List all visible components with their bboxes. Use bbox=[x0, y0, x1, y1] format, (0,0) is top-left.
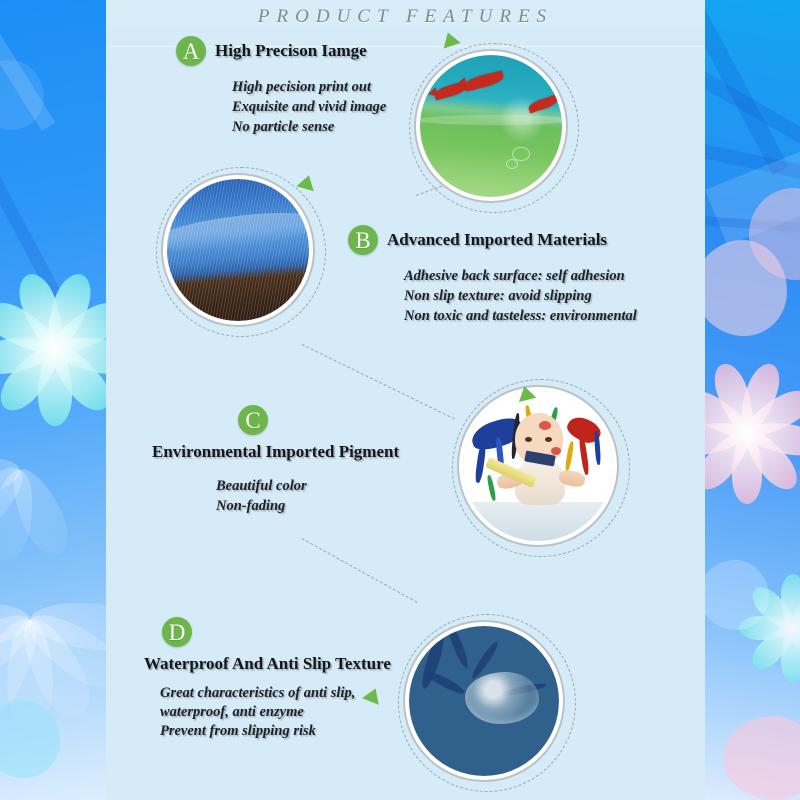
feature-a-line-1: High pecision print out bbox=[232, 77, 386, 97]
feature-c-badge-wrap: C bbox=[238, 405, 399, 435]
paint-on-face bbox=[539, 421, 551, 430]
feature-d-badge-wrap: D bbox=[162, 617, 391, 647]
surface-vein bbox=[444, 626, 471, 670]
infographic-canvas: PRODUCT FEATURES A High Precison Iamge H… bbox=[0, 0, 800, 800]
dashed-connector-line bbox=[302, 538, 418, 603]
feature-d-line-3: Prevent from slipping risk bbox=[160, 722, 391, 741]
feature-section-b: B Advanced Imported Materials Adhesive b… bbox=[348, 225, 637, 326]
feature-a-header: A High Precison Iamge bbox=[176, 36, 386, 66]
feature-section-d: D Waterproof And Anti Slip Texture Great… bbox=[144, 617, 391, 741]
feature-a-line-3: No particle sense bbox=[232, 117, 386, 137]
fabric-sheen bbox=[167, 206, 309, 258]
fish-shape bbox=[527, 95, 559, 114]
painted-floor bbox=[463, 502, 613, 541]
fish-shape bbox=[463, 70, 505, 91]
ripple bbox=[506, 159, 518, 169]
paint-splatter bbox=[486, 475, 496, 501]
feature-b-line-2: Non slip texture: avoid slipping bbox=[404, 286, 637, 306]
feature-c-heading: Environmental Imported Pigment bbox=[152, 442, 399, 462]
feature-b-heading: Advanced Imported Materials bbox=[387, 230, 607, 250]
left-decorative-border bbox=[0, 0, 106, 800]
green-triangle-arrow bbox=[296, 173, 317, 191]
baby-painting-photo bbox=[463, 391, 613, 541]
photo-a-image bbox=[420, 55, 562, 197]
paint-splatter bbox=[564, 441, 574, 471]
content-panel: PRODUCT FEATURES A High Precison Iamge H… bbox=[106, 0, 705, 800]
feature-section-c: C Environmental Imported Pigment Beautif… bbox=[152, 405, 399, 516]
feature-section-a: A High Precison Iamge High pecision prin… bbox=[176, 36, 386, 137]
badge-c: C bbox=[238, 405, 268, 435]
feature-c-line-2: Non-fading bbox=[216, 496, 399, 516]
fish-pool-photo bbox=[420, 55, 562, 197]
feature-d-heading: Waterproof And Anti Slip Texture bbox=[144, 654, 391, 674]
page-title: PRODUCT FEATURES bbox=[106, 6, 705, 28]
water-droplet-photo bbox=[409, 626, 559, 776]
feature-c-line-1: Beautiful color bbox=[216, 476, 399, 496]
feature-b-header: B Advanced Imported Materials bbox=[348, 225, 637, 255]
feature-b-line-1: Adhesive back surface: self adhesion bbox=[404, 266, 637, 286]
photo-c-image bbox=[463, 391, 613, 541]
blob-decor bbox=[723, 716, 800, 800]
blob-decor bbox=[0, 700, 60, 778]
feature-d-line-2: waterproof, anti enzyme bbox=[160, 703, 391, 722]
feature-a-lines: High pecision print out Exquisite and vi… bbox=[232, 77, 386, 137]
fish-tail bbox=[456, 77, 467, 89]
badge-d: D bbox=[162, 617, 192, 647]
badge-a: A bbox=[176, 36, 206, 66]
feature-c-lines: Beautiful color Non-fading bbox=[216, 476, 399, 516]
feature-d-lines: Great characteristics of anti slip, wate… bbox=[160, 684, 391, 741]
blue-fabric-photo bbox=[167, 179, 309, 321]
baby-eye bbox=[525, 437, 532, 442]
water-droplet bbox=[465, 672, 539, 724]
feature-b-line-3: Non toxic and tasteless: environmental bbox=[404, 306, 637, 326]
feature-a-line-2: Exquisite and vivid image bbox=[232, 97, 386, 117]
badge-b: B bbox=[348, 225, 378, 255]
photo-b-image bbox=[167, 179, 309, 321]
water-edge bbox=[420, 115, 562, 125]
blob-decor bbox=[705, 560, 769, 630]
paint-on-face bbox=[551, 447, 561, 455]
paint-splatter bbox=[594, 431, 601, 465]
photo-d-image bbox=[409, 626, 559, 776]
feature-b-lines: Adhesive back surface: self adhesion Non… bbox=[404, 266, 637, 326]
right-decorative-border bbox=[705, 0, 800, 800]
feature-d-line-1: Great characteristics of anti slip, bbox=[160, 684, 391, 703]
feature-a-heading: High Precison Iamge bbox=[215, 41, 367, 61]
baby-eye bbox=[545, 437, 552, 442]
